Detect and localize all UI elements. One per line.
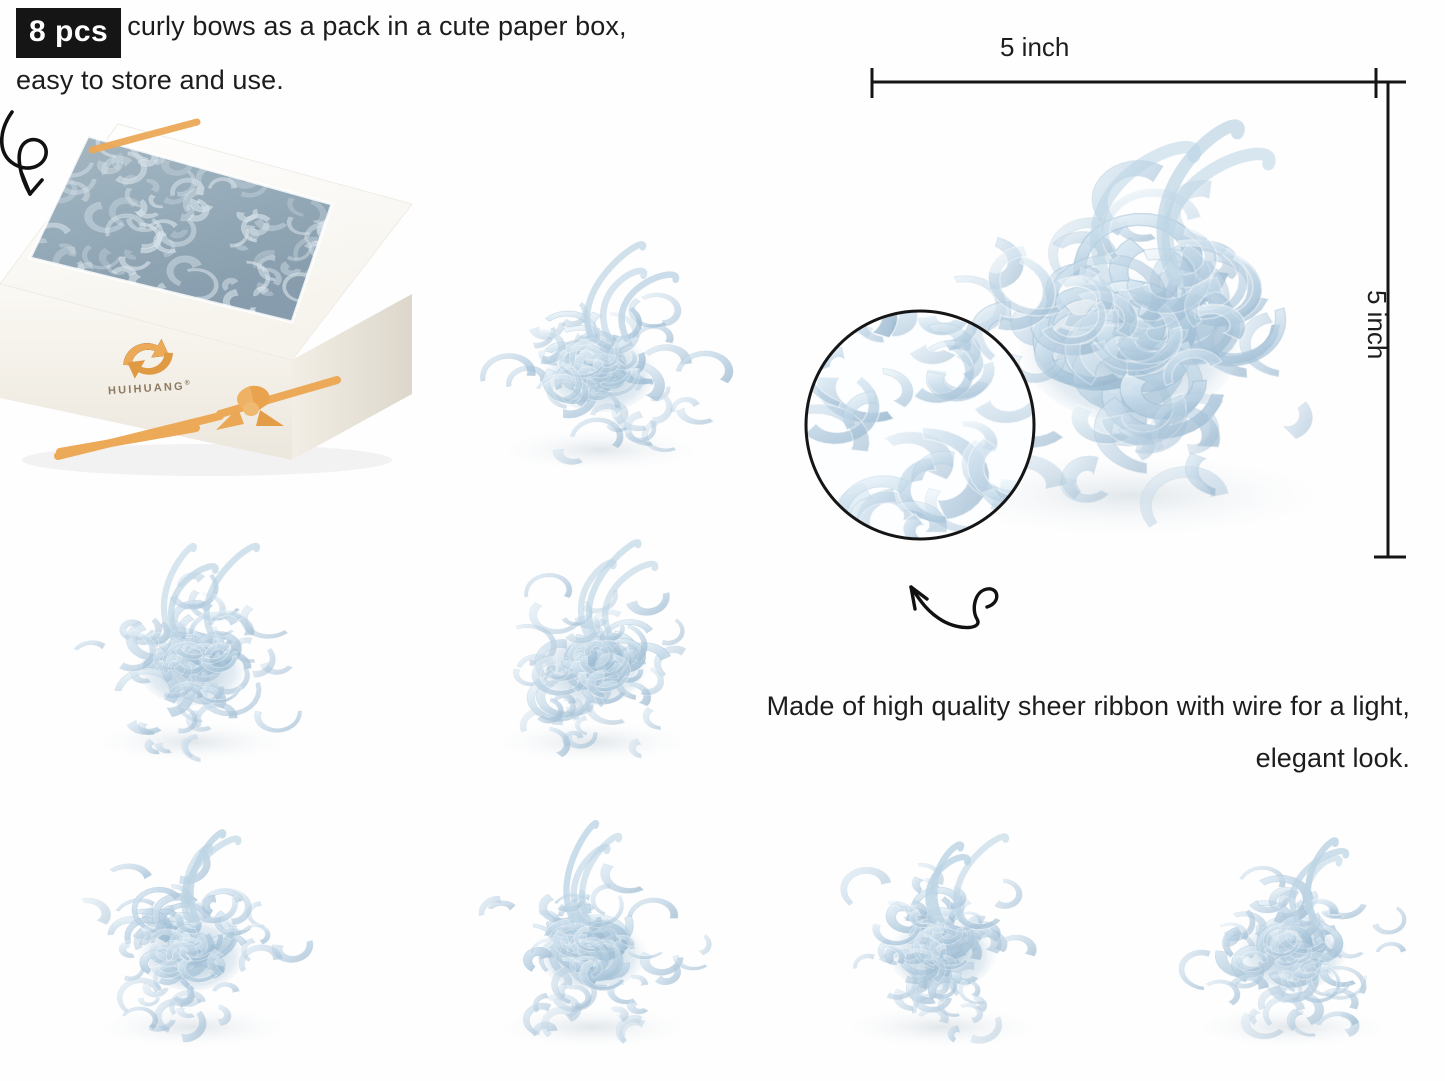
infographic-canvas: HUIHUANG® 8 pcscurly bows as a pack in a…	[0, 0, 1445, 1081]
caption-line-2: elegant look.	[560, 732, 1410, 784]
caption-block: Made of high quality sheer ribbon with w…	[560, 680, 1410, 784]
dim-height-label: 5 inch	[1361, 290, 1392, 359]
headline-block: 8 pcscurly bows as a pack in a cute pape…	[16, 4, 846, 102]
bow-cluster-row2-a	[74, 546, 302, 765]
arrow-top-left	[0, 98, 106, 228]
headline-line-2: easy to store and use.	[16, 58, 846, 102]
bow-cluster-row3-c	[834, 836, 1051, 1049]
bow-cluster-row3-b	[479, 823, 711, 1050]
quantity-badge: 8 pcs	[16, 8, 121, 58]
caption-line-1: Made of high quality sheer ribbon with w…	[560, 680, 1410, 732]
registered-mark-icon: ®	[184, 379, 192, 386]
bow-cluster-row1-a	[480, 244, 733, 473]
headline-line-1: 8 pcscurly bows as a pack in a cute pape…	[16, 4, 846, 58]
arrow-to-magnifier	[875, 565, 1005, 660]
detail-magnifier	[795, 300, 1045, 550]
dim-width-label: 5 inch	[1000, 32, 1069, 63]
headline-text-1: curly bows as a pack in a cute paper box…	[127, 11, 626, 41]
bow-cluster-row3-d	[1179, 840, 1406, 1049]
bow-cluster-row3-a	[82, 832, 313, 1050]
